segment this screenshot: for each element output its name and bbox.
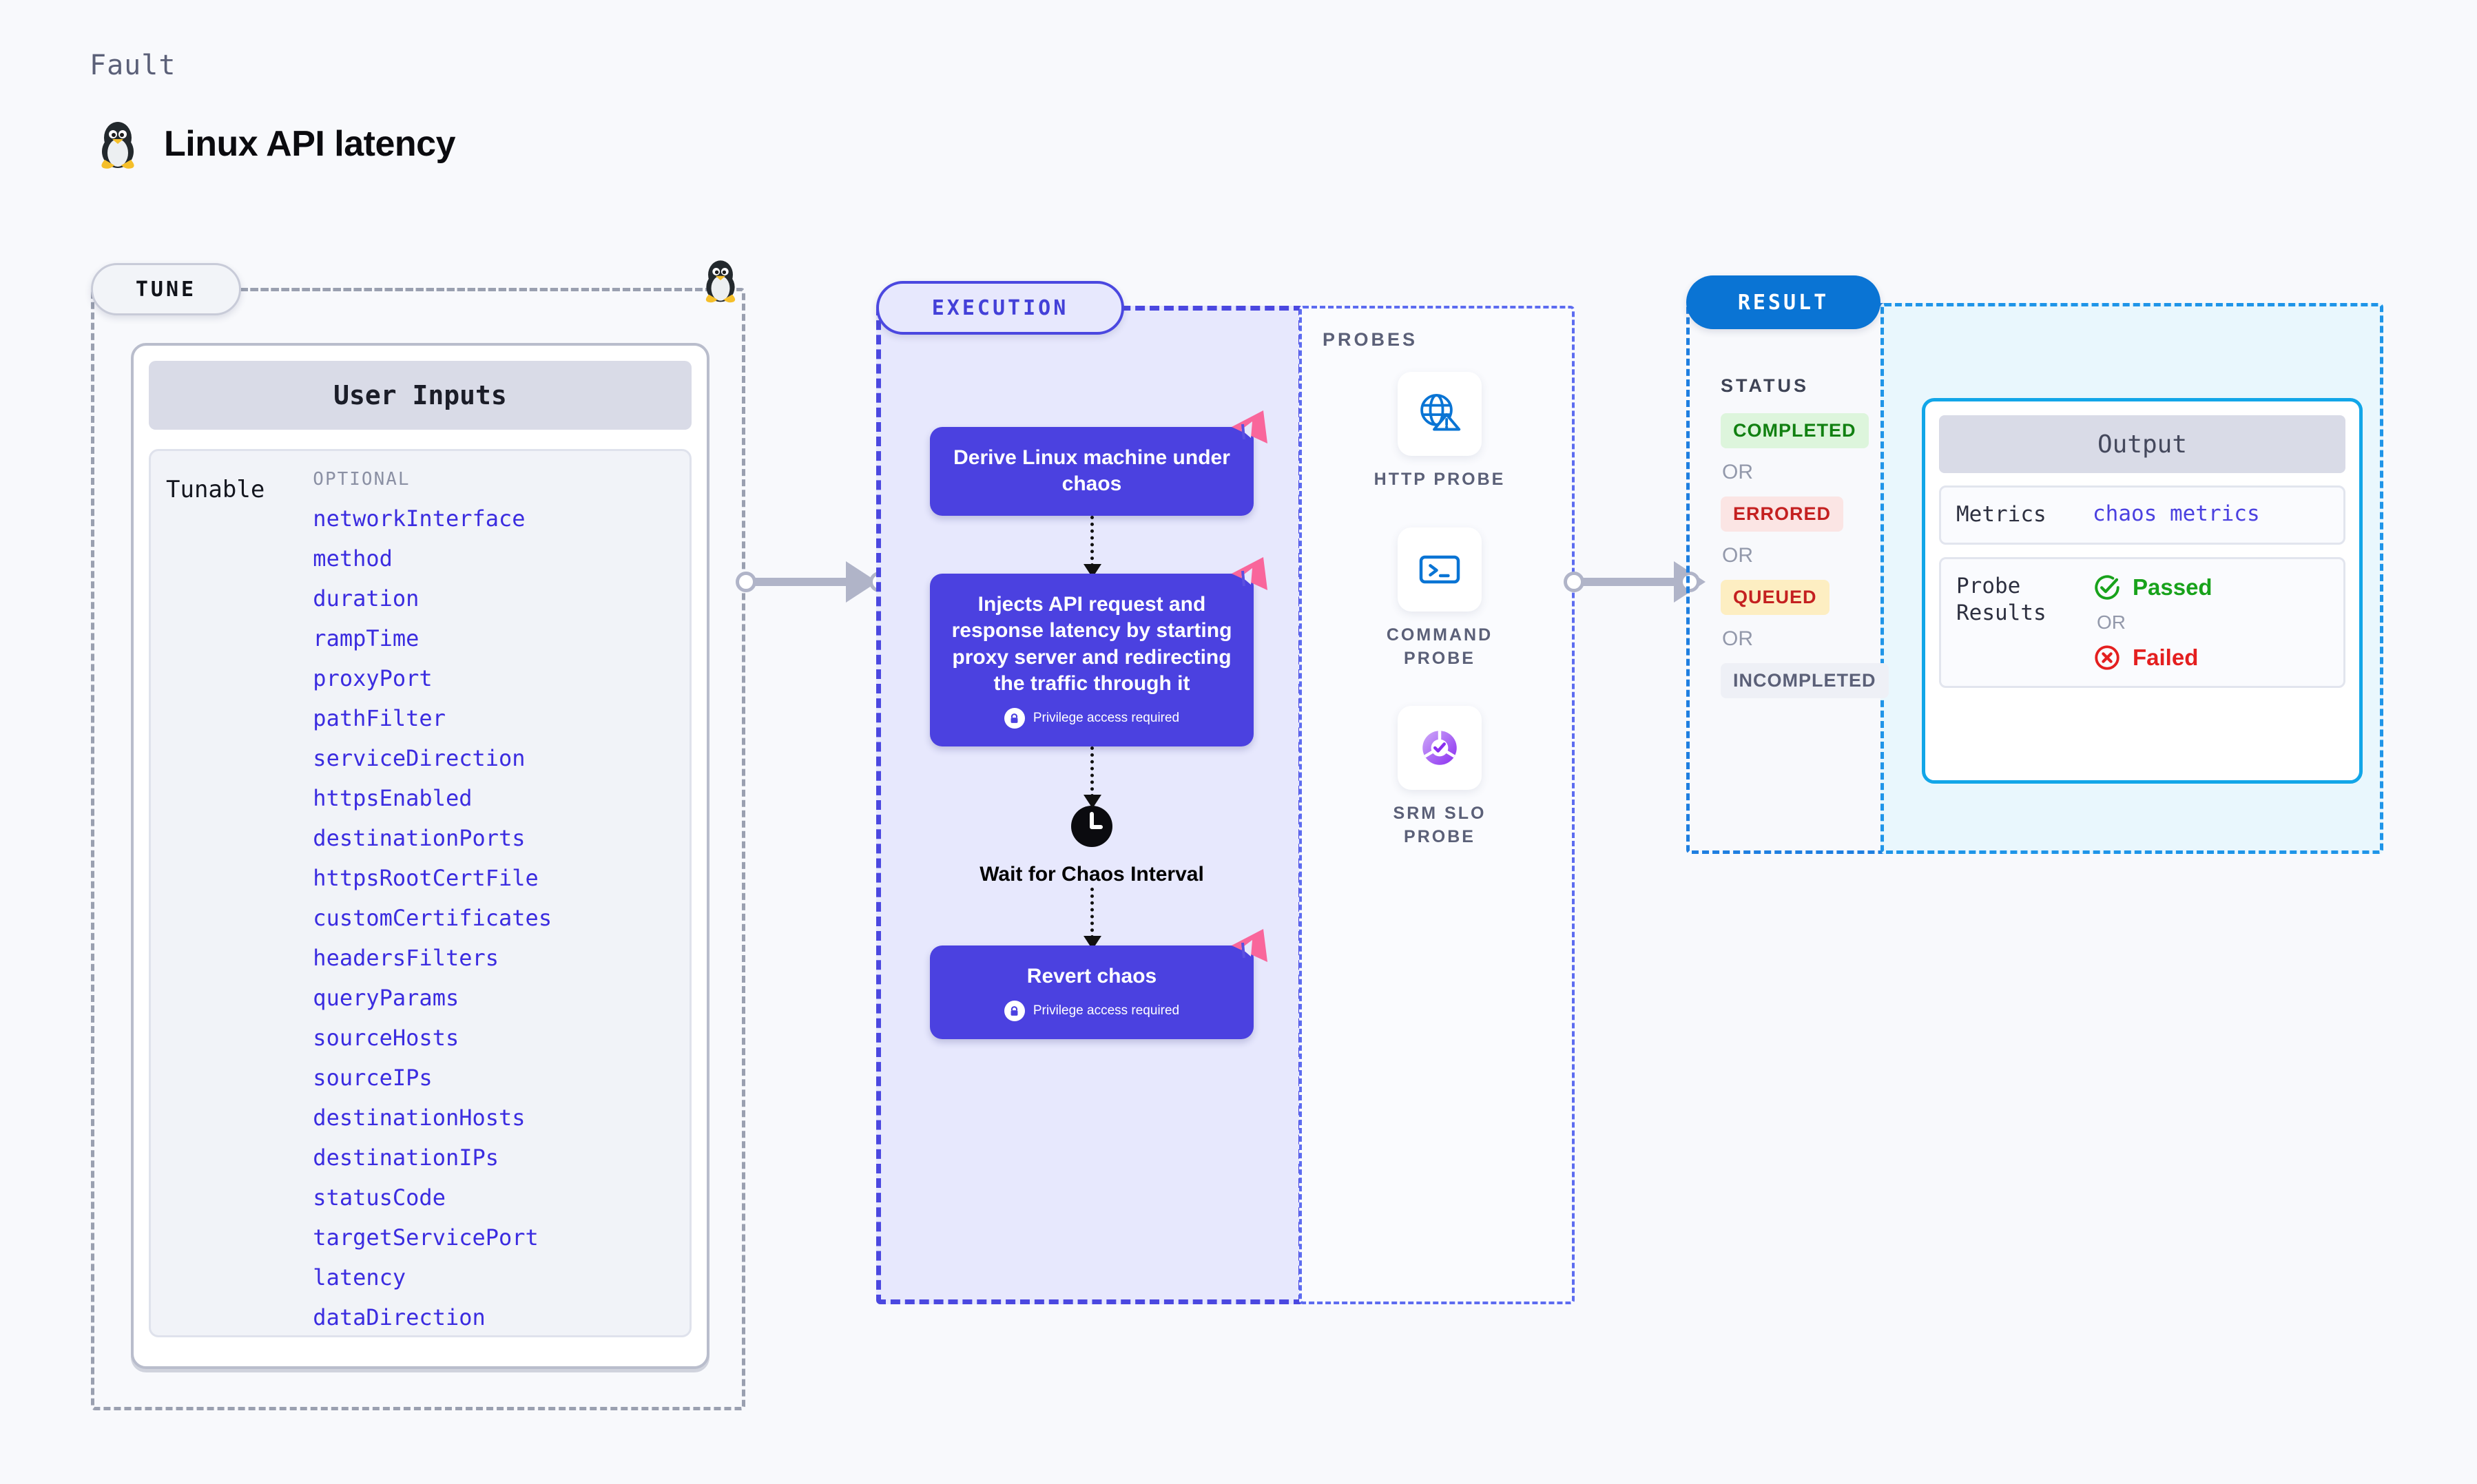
output-metrics-value[interactable]: chaos metrics [2093,501,2260,529]
slo-donut-check-icon [1398,706,1482,790]
output-metrics-row: Metrics chaos metrics [1939,485,2345,545]
output-title: Output [1939,415,2345,473]
user-inputs-card: User Inputs Tunable OPTIONAL networkInte… [131,343,709,1369]
status-badge: COMPLETED [1721,413,1869,448]
execution-flow: Derive Linux machine under chaos Injects… [930,427,1254,1039]
probe-command[interactable]: COMMAND PROBE [1371,527,1509,671]
flow-node-derive[interactable]: Derive Linux machine under chaos [930,427,1254,516]
fault-kicker: Fault [90,50,176,81]
check-circle-icon [2093,573,2122,602]
x-circle-icon [2093,643,2122,672]
or-separator: OR [1722,627,1900,651]
output-probe-results-row: Probe Results Passed OR Failed [1939,557,2345,688]
privilege-note: Privilege access required [945,708,1238,729]
tunable-items-column: OPTIONAL networkInterface method duratio… [271,469,676,1328]
connector-start-dot [1564,572,1584,592]
tunable-item[interactable]: statusCode [313,1187,676,1209]
harness-flag-icon [1227,409,1270,448]
status-badge: INCOMPLETED [1721,663,1889,698]
tunable-item[interactable]: serviceDirection [313,747,676,769]
tunable-item[interactable]: pathFilter [313,707,676,729]
linux-penguin-icon [96,117,139,171]
probe-srm-slo[interactable]: SRM SLO PROBE [1371,706,1509,849]
status-badge: ERRORED [1721,497,1843,532]
linux-penguin-icon [701,256,740,308]
diagram-canvas: Fault Linux API latency TUNE [0,0,2477,1484]
globe-warning-icon [1398,372,1482,456]
output-card: Output Metrics chaos metrics Probe Resul… [1922,398,2363,784]
tune-chip-connector [241,288,723,291]
output-metrics-key: Metrics [1956,501,2073,529]
flow-node-text: Wait for Chaos Interval [930,861,1254,888]
or-separator: OR [2097,612,2212,634]
tunable-item[interactable]: networkInterface [313,508,676,530]
harness-flag-icon [1227,928,1270,966]
result-stage-chip[interactable]: RESULT [1686,275,1880,329]
flow-node-text: Revert chaos [1027,965,1157,987]
tunable-item[interactable]: customCertificates [313,907,676,929]
connector-start-dot [736,572,756,592]
tunable-section: Tunable OPTIONAL networkInterface method… [149,449,692,1337]
flow-node-text: Derive Linux machine under chaos [953,446,1230,495]
tunable-item[interactable]: dataDirection [313,1306,676,1328]
status-badge: QUEUED [1721,580,1830,615]
probe-label: COMMAND PROBE [1371,624,1509,671]
failed-label: Failed [2133,645,2198,671]
privilege-text: Privilege access required [1033,1003,1179,1019]
probe-result-values: Passed OR Failed [2093,573,2212,672]
harness-flag-icon [1227,556,1270,594]
tunable-item[interactable]: destinationPorts [313,827,676,849]
tunable-item[interactable]: sourceHosts [313,1027,676,1049]
tune-stage-chip[interactable]: TUNE [91,263,241,315]
tunable-item[interactable]: latency [313,1266,676,1288]
tunable-group-label: Tunable [166,469,265,1328]
flow-node-revert[interactable]: Revert chaos Privilege access required [930,945,1254,1039]
tunable-item[interactable]: rampTime [313,627,676,649]
probe-label: SRM SLO PROBE [1371,802,1509,849]
execution-stage-chip[interactable]: EXECUTION [876,281,1124,335]
tunable-item[interactable]: destinationIPs [313,1147,676,1169]
flow-node-inject[interactable]: Injects API request and response latency… [930,574,1254,747]
terminal-icon [1398,527,1482,612]
tunable-item[interactable]: headersFilters [313,947,676,969]
lock-icon [1004,708,1025,729]
tunable-item[interactable]: queryParams [313,987,676,1009]
probes-title: PROBES [1323,329,1418,351]
user-inputs-title: User Inputs [149,361,692,430]
tunable-item[interactable]: targetServicePort [313,1226,676,1248]
passed-label: Passed [2133,574,2212,600]
probes-list: HTTP PROBE COMMAND PROBE [1371,372,1509,885]
flow-node-text: Injects API request and response latency… [952,593,1232,695]
flow-arrow [1090,746,1094,804]
flow-arrow [1090,888,1094,945]
fault-title-row: Linux API latency [96,117,455,171]
privilege-text: Privilege access required [1033,710,1179,727]
probe-result-failed: Failed [2093,643,2212,672]
status-title: STATUS [1721,375,1809,397]
tunable-item[interactable]: sourceIPs [313,1067,676,1089]
lock-icon [1004,1001,1025,1021]
probe-result-passed: Passed [2093,573,2212,602]
tunable-item[interactable]: method [313,547,676,569]
privilege-note: Privilege access required [945,1001,1238,1021]
tunable-item[interactable]: httpsRootCertFile [313,867,676,889]
probe-label: HTTP PROBE [1371,468,1509,492]
or-separator: OR [1722,544,1900,567]
or-separator: OR [1722,461,1900,484]
flow-node-wait: Wait for Chaos Interval [930,804,1254,888]
tunable-item[interactable]: destinationHosts [313,1107,676,1129]
page-title: Linux API latency [164,123,455,165]
status-list: COMPLETED OR ERRORED OR QUEUED OR INCOMP… [1721,413,1900,698]
tunable-item[interactable]: proxyPort [313,667,676,689]
tunable-item[interactable]: duration [313,587,676,609]
tunable-item[interactable]: httpsEnabled [313,787,676,809]
optional-tag: OPTIONAL [313,469,676,490]
probe-http[interactable]: HTTP PROBE [1371,372,1509,492]
clock-icon [1070,804,1114,848]
output-probe-results-key: Probe Results [1956,573,2073,672]
flow-arrow [1090,516,1094,574]
